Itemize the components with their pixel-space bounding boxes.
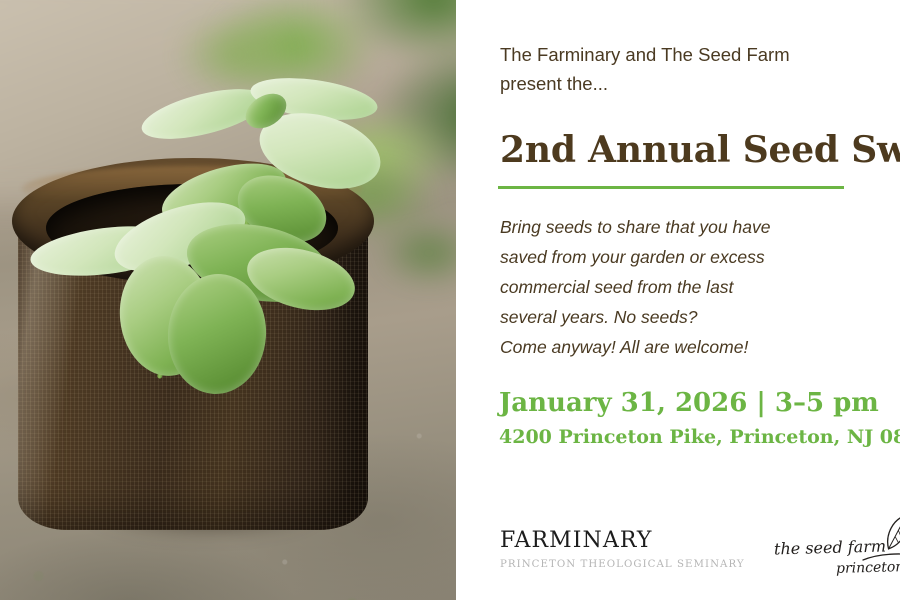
farminary-logo-subtitle: PRINCETON THEOLOGICAL SEMINARY [500, 557, 745, 573]
page-title: 2nd Annual Seed Swap [500, 128, 900, 172]
event-address: 4200 Princeton Pike, Princeton, NJ 08540 [499, 424, 900, 450]
seedling-plant [0, 60, 456, 540]
seedling-photo [0, 0, 456, 600]
farminary-logo: FARMINARY PRINCETON THEOLOGICAL SEMINARY [500, 528, 745, 573]
event-date-time: January 31, 2026 | 3–5 pm [499, 387, 900, 419]
seed-swap-poster: The Farminary and The Seed Farm present … [0, 0, 900, 600]
leaf-icon [874, 510, 900, 556]
green-divider [498, 186, 844, 189]
body-copy: Bring seeds to share that you have saved… [500, 212, 900, 362]
seed-farm-logo: the seed farm princeton [774, 516, 900, 592]
poster-text-panel: The Farminary and The Seed Farm present … [456, 0, 900, 600]
intro-text: The Farminary and The Seed Farm present … [500, 40, 900, 98]
farminary-logo-name: FARMINARY [500, 528, 745, 554]
